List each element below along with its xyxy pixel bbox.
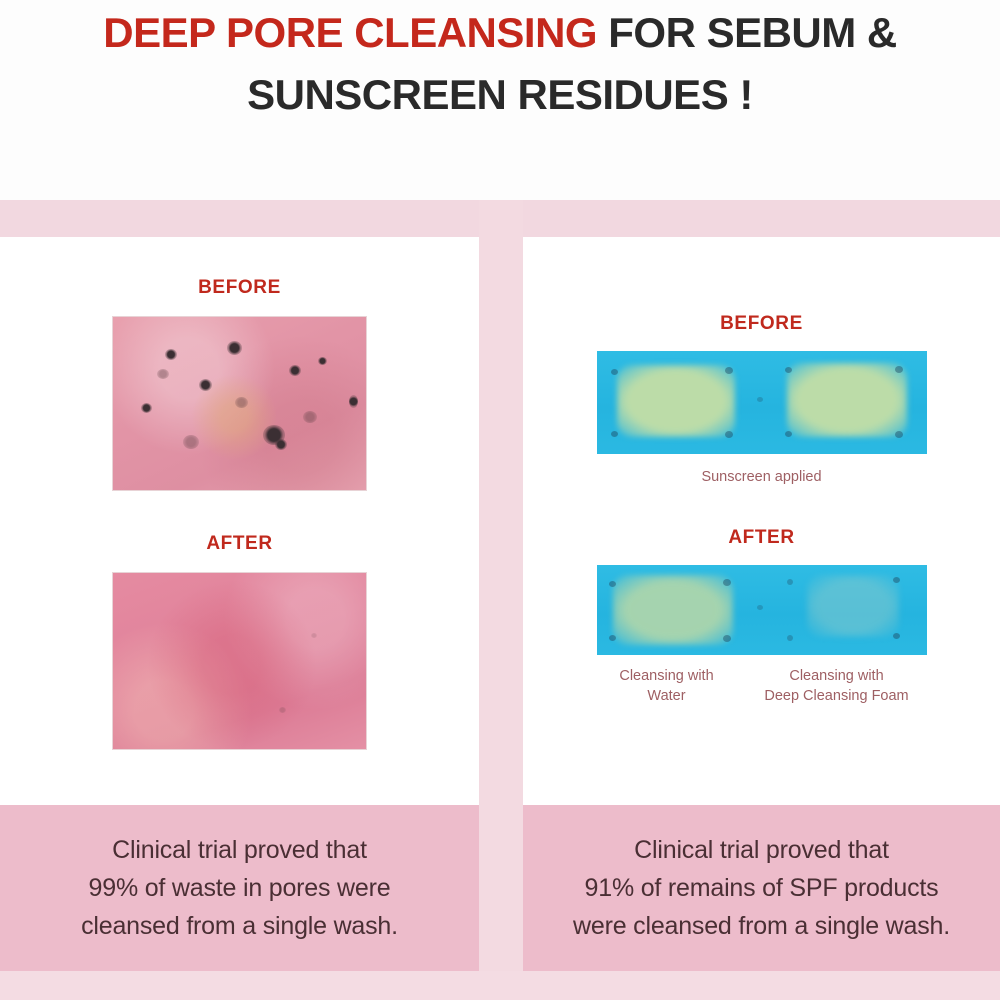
headline-dark-text: FOR SEBUM &: [597, 9, 897, 56]
headline-line-2: SUNSCREEN RESIDUES !: [247, 64, 753, 126]
uv-marker-speck: [611, 431, 618, 437]
uv-marker-speck: [757, 397, 763, 402]
panel-pore-test: BEFORE AFTER: [0, 237, 479, 805]
skin-macro-before-image: [112, 316, 367, 491]
uv-marker-speck: [895, 366, 903, 373]
uv-marker-speck: [609, 635, 616, 641]
uv-sunscreen-patch: [787, 363, 907, 437]
uv-strip-before-image: [597, 351, 927, 454]
uv-marker-speck: [787, 635, 793, 641]
caption-pore-line3: cleansed from a single wash.: [81, 907, 398, 945]
sunscreen-after-sublabel-water: Cleansing with Water: [592, 666, 742, 706]
sublabel-foam-line1: Cleansing with: [742, 666, 932, 686]
caption-spf-line1: Clinical trial proved that: [573, 831, 950, 869]
uv-marker-speck: [725, 431, 733, 438]
headline-line-1: DEEP PORE CLEANSING FOR SEBUM &: [103, 2, 897, 64]
frame-bottom-band: [0, 971, 1000, 1000]
uv-marker-speck: [785, 431, 792, 437]
caption-block-sunscreen-test: Clinical trial proved that 91% of remain…: [523, 805, 1000, 971]
sunscreen-after-sublabel-foam: Cleansing with Deep Cleansing Foam: [742, 666, 932, 706]
caption-text-sunscreen: Clinical trial proved that 91% of remain…: [573, 831, 950, 945]
caption-pore-line2: 99% of waste in pores were: [81, 869, 398, 907]
pore-spot-soft: [235, 397, 248, 408]
pore-before-label: BEFORE: [0, 277, 479, 299]
sublabel-water-line2: Water: [592, 686, 742, 706]
uv-marker-speck: [787, 579, 793, 585]
pore-spot-soft: [157, 369, 169, 379]
caption-spf-line2: 91% of remains of SPF products: [573, 869, 950, 907]
pore-spot-soft: [183, 435, 199, 449]
uv-residue-patch-foam: [807, 575, 899, 637]
sunscreen-after-label: AFTER: [523, 527, 1000, 549]
uv-marker-speck: [723, 579, 731, 586]
panel-sunscreen-test: BEFORE Sunscreen applied AFTER Cleansing…: [523, 237, 1000, 805]
pore-spot: [349, 395, 358, 408]
uv-marker-speck: [893, 577, 900, 583]
sublabel-water-line1: Cleansing with: [592, 666, 742, 686]
sunscreen-before-sublabel: Sunscreen applied: [523, 467, 1000, 487]
uv-marker-speck: [725, 367, 733, 374]
pore-spot: [141, 403, 152, 413]
skin-macro-after-image: [112, 572, 367, 750]
uv-marker-speck: [723, 635, 731, 642]
caption-pore-line1: Clinical trial proved that: [81, 831, 398, 869]
pore-spot: [318, 357, 327, 365]
pore-after-label: AFTER: [0, 533, 479, 555]
caption-text-pore: Clinical trial proved that 99% of waste …: [81, 831, 398, 945]
sunscreen-before-label: BEFORE: [523, 313, 1000, 335]
pore-spot-soft: [303, 411, 317, 423]
sunscreen-after-sublabel-row: Cleansing with Water Cleansing with Deep…: [523, 666, 1000, 706]
uv-marker-speck: [893, 633, 900, 639]
pore-spot: [199, 379, 212, 391]
uv-marker-speck: [785, 367, 792, 373]
uv-marker-speck: [609, 581, 616, 587]
headline-accent-text: DEEP PORE CLEANSING: [103, 9, 597, 56]
caption-block-pore-test: Clinical trial proved that 99% of waste …: [0, 805, 479, 971]
pore-spot-soft: [279, 707, 286, 713]
uv-marker-speck: [757, 605, 763, 610]
pore-spot: [227, 341, 242, 355]
uv-sunscreen-patch: [617, 365, 735, 437]
pore-spot-soft: [311, 633, 317, 638]
pore-spot: [275, 439, 287, 450]
uv-residue-patch-water: [613, 575, 733, 645]
sublabel-foam-line2: Deep Cleansing Foam: [742, 686, 932, 706]
pore-spot: [165, 349, 177, 360]
uv-strip-after-image: [597, 565, 927, 655]
pore-spot: [289, 365, 301, 376]
caption-spf-line3: were cleansed from a single wash.: [573, 907, 950, 945]
uv-marker-speck: [611, 369, 618, 375]
uv-marker-speck: [895, 431, 903, 438]
header-banner: DEEP PORE CLEANSING FOR SEBUM & SUNSCREE…: [0, 0, 1000, 200]
frame-vertical-divider: [479, 200, 523, 972]
